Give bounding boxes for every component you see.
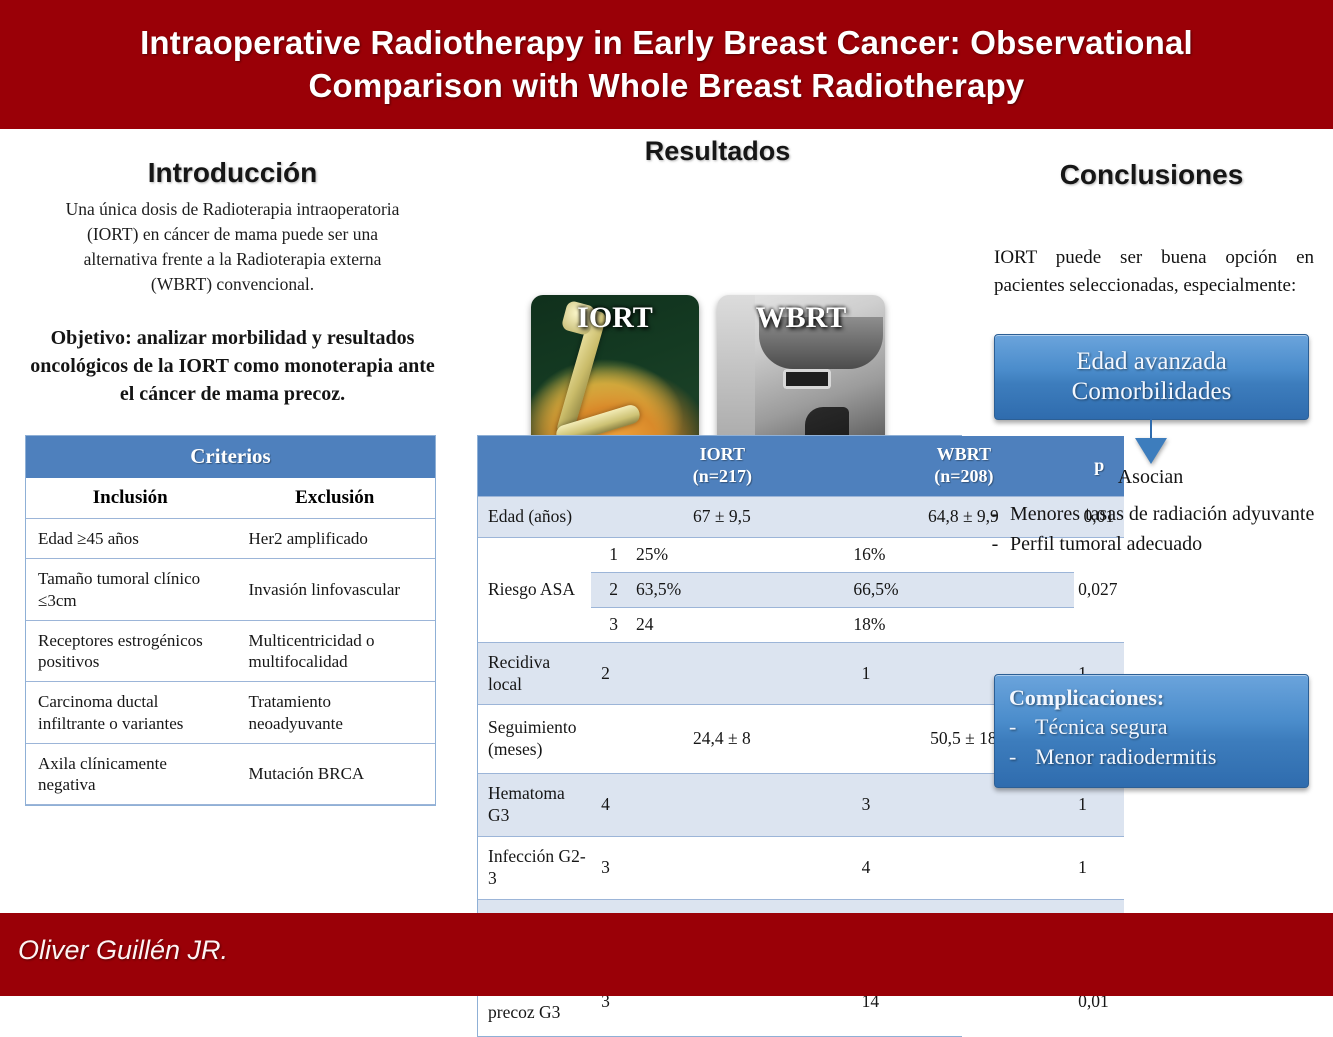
row-wbrt-value: 4 (854, 836, 1075, 899)
criterios-column-headers: Inclusión Exclusión (26, 478, 435, 519)
resultados-col-iort: IORT (n=217) (591, 436, 853, 497)
asocian-list: - Menores tasas de radiación adyuvante -… (980, 501, 1320, 560)
objetivo-paragraph: Objetivo: analizar morbilidad y resultad… (28, 324, 438, 408)
resultados-heading: Resultados (465, 136, 970, 167)
list-item-text: Técnica segura (1035, 712, 1168, 741)
resultados-column: Resultados IORT (2015-17) WBRT (2012-17)… (465, 129, 970, 167)
asa-wbrt-value: 66,5% (853, 572, 1074, 607)
list-item: - Menores tasas de radiación adyuvante (980, 501, 1320, 529)
criterios-inclusion-cell: Receptores estrogénicos positivos (26, 620, 235, 682)
objetivo-label: Objetivo (51, 327, 125, 349)
iort-photo-label: IORT (531, 301, 699, 335)
criterios-table: Criterios Inclusión Exclusión Edad ≥45 a… (25, 435, 436, 806)
list-item: - Perfil tumoral adecuado (980, 531, 1320, 559)
conclusiones-heading: Conclusiones (970, 159, 1333, 191)
table-row: Tamaño tumoral clínico ≤3cm Invasión lin… (26, 559, 435, 621)
row-label: Seguimiento (meses) (478, 705, 591, 774)
resultados-col-wbrt-label: WBRT (937, 444, 991, 464)
criterios-exclusion-cell: Mutación BRCA (235, 743, 436, 805)
row-iort-value: 3 (591, 836, 853, 899)
conclusiones-paragraph: IORT puede ser buena opción en pacientes… (994, 244, 1314, 299)
row-iort-value: 4 (591, 774, 853, 837)
poster-header: Intraoperative Radiotherapy in Early Bre… (0, 0, 1333, 129)
introduccion-paragraph: Una única dosis de Radioterapia intraope… (60, 197, 405, 296)
asa-iort-value: 25% (636, 538, 853, 572)
row-label: Edad (años) (478, 497, 591, 538)
asa-grade: 1 (591, 538, 636, 572)
edad-comorbilidades-box: Edad avanzada Comorbilidades (994, 334, 1309, 420)
row-iort-value: 2 (591, 642, 853, 705)
down-arrow-icon (994, 418, 1307, 462)
criterios-exclusion-cell: Multicentricidad o multifocalidad (235, 620, 436, 682)
complicaciones-box: Complicaciones: - Técnica segura - Menor… (994, 674, 1309, 788)
row-label: Riesgo ASA (478, 538, 591, 643)
resultados-col-wbrt-n: (n=208) (934, 466, 993, 486)
criterios-title: Criterios (26, 436, 435, 478)
list-item: - Menor radiodermitis (995, 742, 1308, 771)
box-line-comorbilidades: Comorbilidades (1072, 377, 1232, 407)
linac-head-shape (783, 369, 831, 389)
bullet-dash-icon: - (1009, 712, 1035, 741)
asa-subrow-highlighted: 2 63,5% 66,5% (591, 572, 1074, 607)
page-title: Intraoperative Radiotherapy in Early Bre… (47, 22, 1287, 106)
table-row: Edad ≥45 años Her2 amplificado (26, 519, 435, 559)
asocian-label: Asocian (994, 466, 1307, 489)
criterios-inclusion-cell: Axila clínicamente negativa (26, 743, 235, 805)
row-iort-value: 67 ± 9,5 (591, 497, 853, 538)
author-name: Oliver Guillén JR. (18, 935, 228, 966)
bullet-dash-icon: - (980, 531, 1010, 559)
table-row: Axila clínicamente negativa Mutación BRC… (26, 743, 435, 805)
criterios-inclusion-cell: Carcinoma ductal infiltrante o variantes (26, 682, 235, 744)
row-label: Hematoma G3 (478, 774, 591, 837)
asa-iort-value: 24 (636, 607, 853, 641)
list-item-text: Menores tasas de radiación adyuvante (1010, 501, 1320, 529)
list-item-text: Perfil tumoral adecuado (1010, 531, 1320, 559)
bullet-dash-icon: - (980, 501, 1010, 529)
complicaciones-title: Complicaciones: (995, 683, 1308, 712)
asa-subrow: 3 24 18% (591, 607, 1074, 641)
poster-footer: Oliver Guillén JR. (0, 913, 1333, 996)
table-row: Receptores estrogénicos positivos Multic… (26, 620, 435, 682)
asa-grade: 3 (591, 607, 636, 641)
conclusiones-column: Conclusiones IORT puede ser buena opción… (970, 129, 1333, 191)
table-row: Carcinoma ductal infiltrante o variantes… (26, 682, 435, 744)
table-row: Infección G2-3 3 4 1 (478, 836, 1124, 899)
box-line-edad: Edad avanzada (1076, 347, 1227, 377)
bullet-dash-icon: - (1009, 742, 1035, 771)
resultados-col-iort-label: IORT (700, 444, 745, 464)
row-label: Recidiva local (478, 642, 591, 705)
criterios-title-row: Criterios (26, 436, 435, 478)
asa-wbrt-value: 18% (853, 607, 1074, 641)
introduccion-heading: Introducción (0, 157, 465, 189)
row-p-value: 1 (1074, 836, 1124, 899)
row-label: Infección G2-3 (478, 836, 591, 899)
asa-iort-value: 63,5% (636, 572, 853, 607)
criterios-exclusion-cell: Invasión linfovascular (235, 559, 436, 621)
introduction-column: Introducción Una única dosis de Radioter… (0, 129, 465, 408)
criterios-exclusion-cell: Tratamiento neoadyuvante (235, 682, 436, 744)
criterios-col-exclusion: Exclusión (235, 478, 436, 519)
linac-gantry-shape (759, 317, 883, 369)
criterios-exclusion-cell: Her2 amplificado (235, 519, 436, 559)
criterios-inclusion-cell: Tamaño tumoral clínico ≤3cm (26, 559, 235, 621)
resultados-col-blank (478, 436, 591, 497)
list-item-text: Menor radiodermitis (1035, 742, 1216, 771)
row-iort-value: 24,4 ± 8 (591, 705, 853, 774)
resultados-col-iort-n: (n=217) (693, 466, 752, 486)
asa-grade: 2 (591, 572, 636, 607)
list-item: - Técnica segura (995, 712, 1308, 741)
criterios-inclusion-cell: Edad ≥45 años (26, 519, 235, 559)
criterios-col-inclusion: Inclusión (26, 478, 235, 519)
